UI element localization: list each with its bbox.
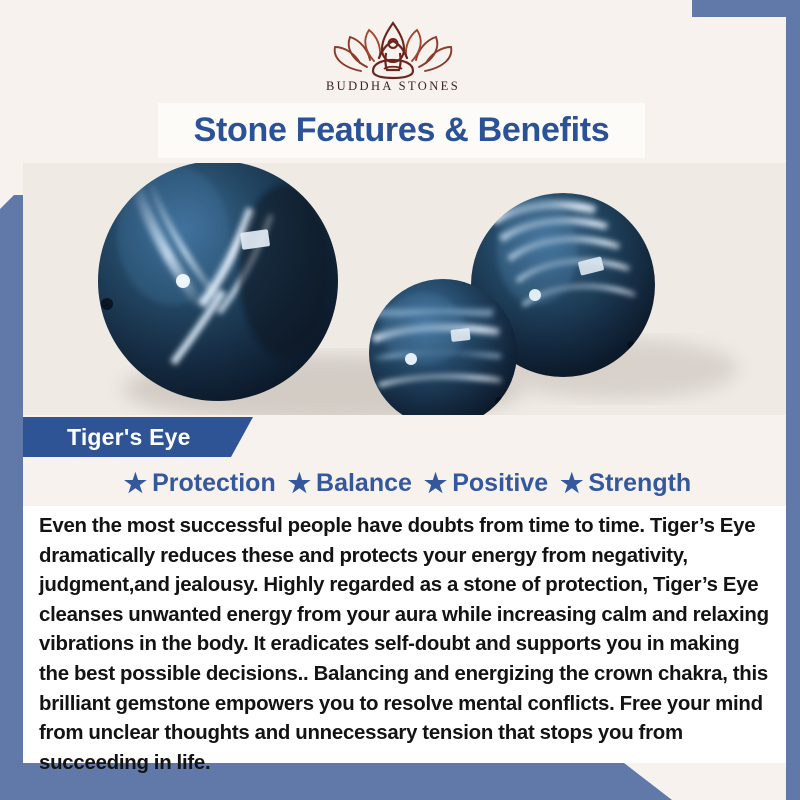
star-icon: ★ xyxy=(124,470,147,496)
description-text: Even the most successful people have dou… xyxy=(39,512,770,778)
brand-name: BUDDHA STONES xyxy=(293,79,493,94)
title-banner: Stone Features & Benefits xyxy=(158,103,645,158)
benefits-row: ★ Protection ★ Balance ★ Positive ★ Stre… xyxy=(23,462,786,504)
benefit-label: Protection xyxy=(152,469,276,498)
stone-name-label: Tiger's Eye xyxy=(23,424,191,451)
benefit-label: Positive xyxy=(452,469,548,498)
benefit-item-strength: ★ Strength xyxy=(554,469,691,498)
benefit-item-balance: ★ Balance xyxy=(282,469,412,498)
stone-hero-image xyxy=(23,163,786,415)
benefit-label: Strength xyxy=(588,469,691,498)
star-icon: ★ xyxy=(424,470,447,496)
benefit-item-protection: ★ Protection xyxy=(118,469,276,498)
benefit-item-positive: ★ Positive xyxy=(418,469,548,498)
star-icon: ★ xyxy=(288,470,311,496)
page-title: Stone Features & Benefits xyxy=(194,111,610,150)
frame-border-top-inset xyxy=(0,0,692,17)
tigers-eye-spheres-illustration xyxy=(23,163,786,415)
brand-logo: BUDDHA STONES xyxy=(293,19,493,94)
lotus-meditation-icon xyxy=(329,19,457,81)
star-icon: ★ xyxy=(560,470,583,496)
frame-border-left xyxy=(0,195,23,800)
brand-header: BUDDHA STONES xyxy=(0,17,786,100)
benefit-label: Balance xyxy=(316,469,412,498)
stone-name-tag: Tiger's Eye xyxy=(23,417,253,457)
description-panel: Even the most successful people have dou… xyxy=(23,506,786,763)
